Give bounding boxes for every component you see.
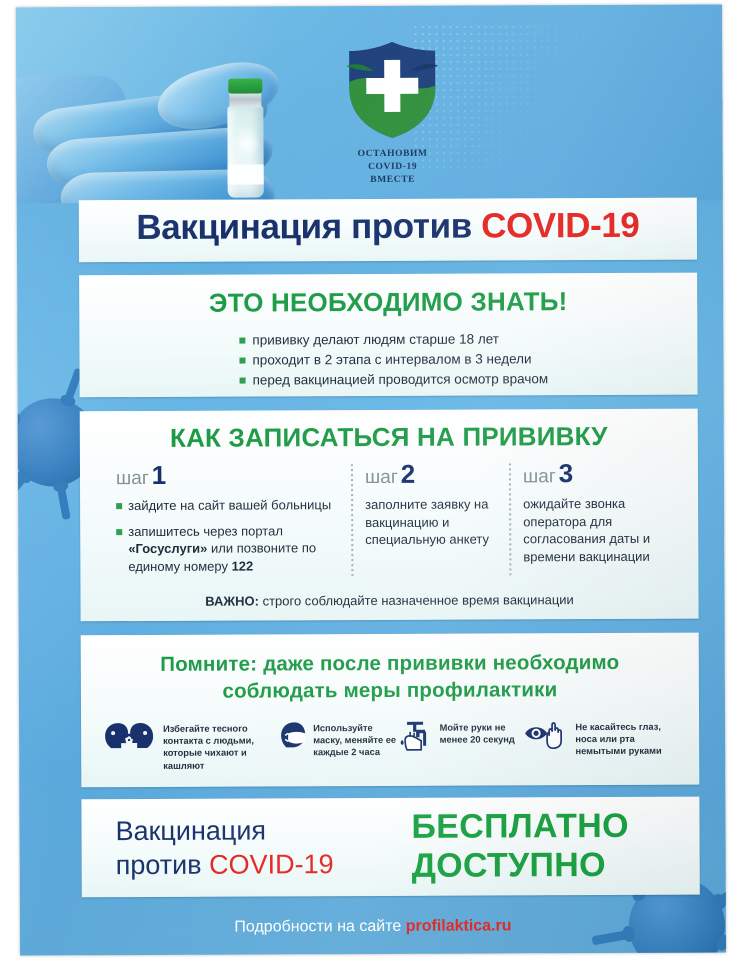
footer-text: Подробности на сайте	[234, 918, 401, 936]
steps-card: КАК ЗАПИСАТЬСЯ НА ПРИВИВКУ шаг1 зайдите …	[80, 409, 699, 622]
sneezing-heads-icon	[101, 721, 157, 756]
virus-spike	[16, 400, 17, 424]
important-text: строго соблюдайте назначенное время вакц…	[263, 592, 574, 608]
vaccine-vial-icon	[224, 78, 267, 198]
virus-spike	[57, 485, 71, 520]
gloved-hand-illustration	[16, 22, 337, 203]
step-number: 3	[559, 458, 574, 488]
important-label: ВАЖНО:	[205, 593, 259, 608]
step-3-header: шаг3	[523, 461, 666, 490]
free-card: Вакцинация против COVID-19 БЕСПЛАТНО ДОС…	[81, 797, 699, 898]
poster-root: ОСТАНОВИМ COVID-19 ВМЕСТЕ Вакцинация про…	[0, 0, 741, 960]
free-left-highlight: COVID-19	[209, 849, 334, 880]
list-item: зайдите на сайт вашей больницы	[116, 496, 337, 514]
logo-caption: ОСТАНОВИМ COVID-19 ВМЕСТЕ	[333, 148, 453, 188]
poster-page: ОСТАНОВИМ COVID-19 ВМЕСТЕ Вакцинация про…	[16, 4, 726, 955]
prevention-measures: Избегайте тесного контакта с людьми, кот…	[101, 719, 685, 772]
virus-spike	[16, 474, 28, 505]
hero-photo: ОСТАНОВИМ COVID-19 ВМЕСТЕ	[16, 4, 723, 203]
logo-caption-line3: ВМЕСТЕ	[333, 174, 453, 188]
step-2: шаг2 заполните заявку на вакцинацию и сп…	[351, 461, 510, 582]
step-2-text: заполните заявку на вакцинацию и специал…	[365, 495, 495, 548]
measure-no-touch-face: Не касайтесь глаз, носа или рта немытыми…	[523, 719, 685, 758]
free-left-plain: против	[116, 850, 202, 880]
free-content: Вакцинация против COVID-19 БЕСПЛАТНО ДОС…	[81, 797, 699, 898]
important-note: ВАЖНО: строго соблюдайте назначенное вре…	[80, 592, 698, 610]
know-heading: ЭТО НЕОБХОДИМО ЗНАТЬ!	[79, 286, 697, 320]
shield-icon	[340, 38, 444, 142]
know-card: ЭТО НЕОБХОДИМО ЗНАТЬ! прививку делают лю…	[79, 273, 698, 398]
step-word: шаг	[365, 467, 398, 488]
remember-heading-line2: соблюдать меры профилактики	[105, 676, 675, 705]
step-1-bullets: зайдите на сайт вашей больницы запишитес…	[116, 496, 337, 575]
measure-use-mask: Используйте маску, меняйте ее каждые 2 ч…	[277, 720, 398, 759]
step-3: шаг3 ожидайте звонка оператора для согла…	[509, 461, 681, 582]
step-number: 1	[152, 460, 167, 490]
title-card: Вакцинация против COVID-19	[79, 198, 697, 263]
vial-cap	[228, 78, 262, 93]
vial-label	[228, 164, 264, 184]
logo-caption-line1: ОСТАНОВИМ	[333, 148, 453, 162]
measure-caption: Используйте маску, меняйте ее каждые 2 ч…	[313, 720, 398, 759]
free-right-line1: БЕСПЛАТНО	[411, 807, 628, 847]
free-right-text: БЕСПЛАТНО ДОСТУПНО	[411, 807, 629, 886]
stop-covid-logo: ОСТАНОВИМ COVID-19 ВМЕСТЕ	[332, 38, 453, 191]
measure-caption: Не касайтесь глаз, носа или рта немытыми…	[575, 719, 685, 758]
virus-spike	[721, 938, 726, 956]
list-item: прививку делают людям старше 18 лет	[239, 329, 697, 350]
step-1-header: шаг1	[116, 462, 337, 491]
virus-spike	[716, 878, 726, 905]
title-highlight: COVID-19	[481, 206, 639, 246]
measure-caption: Мойте руки не менее 20 секунд	[440, 719, 524, 746]
remember-heading: Помните: даже после прививки необходимо …	[105, 649, 675, 705]
step-3-text: ожидайте звонка оператора для согласован…	[523, 495, 666, 566]
logo-caption-line2: COVID-19	[333, 161, 453, 175]
vial-collar	[229, 91, 261, 107]
measure-wash-hands: Мойте руки не менее 20 секунд	[398, 719, 524, 759]
know-bullet-list: прививку делают людям старше 18 лет прох…	[199, 329, 697, 390]
footer: Подробности на сайте profilaktica.ru	[20, 916, 726, 937]
footer-site[interactable]: profilaktica.ru	[406, 917, 512, 934]
step-1-b2-bold-a: «Госуслуги»	[128, 541, 207, 556]
free-right-line2: ДОСТУПНО	[412, 846, 629, 886]
no-touch-face-icon	[523, 719, 569, 754]
vial-glow	[232, 128, 260, 158]
step-word: шаг	[523, 466, 556, 487]
steps-columns: шаг1 зайдите на сайт вашей больницы запи…	[102, 461, 681, 584]
face-mask-icon	[277, 720, 307, 755]
list-item: перед вакцинацией проводится осмотр врач…	[240, 369, 698, 390]
steps-heading: КАК ЗАПИСАТЬСЯ НА ПРИВИВКУ	[80, 421, 698, 455]
remember-heading-line1: Помните: даже после прививки необходимо	[105, 649, 675, 678]
step-word: шаг	[116, 468, 149, 489]
step-1-b2-bold-b: 122	[232, 558, 254, 573]
list-item: проходит в 2 этапа с интервалом в 3 неде…	[239, 349, 697, 370]
step-1: шаг1 зайдите на сайт вашей больницы запи…	[102, 462, 352, 583]
list-item: запишитесь через портал «Госуслуги» или …	[116, 522, 337, 575]
wash-hands-faucet-icon	[398, 720, 434, 759]
page-title: Вакцинация против COVID-19	[79, 206, 697, 249]
free-left-text: Вакцинация против COVID-19	[81, 813, 411, 882]
free-left-line2: против COVID-19	[116, 847, 412, 882]
free-left-line1: Вакцинация	[115, 813, 411, 848]
measure-avoid-contact: Избегайте тесного контакта с людьми, кот…	[101, 720, 277, 772]
step-number: 2	[401, 459, 416, 489]
title-main: Вакцинация против	[136, 207, 472, 247]
step-2-header: шаг2	[365, 461, 495, 490]
measure-caption: Избегайте тесного контакта с людьми, кот…	[163, 720, 277, 771]
step-1-b2-plain-a: запишитесь через портал	[128, 523, 283, 539]
remember-card: Помните: даже после прививки необходимо …	[81, 633, 700, 788]
